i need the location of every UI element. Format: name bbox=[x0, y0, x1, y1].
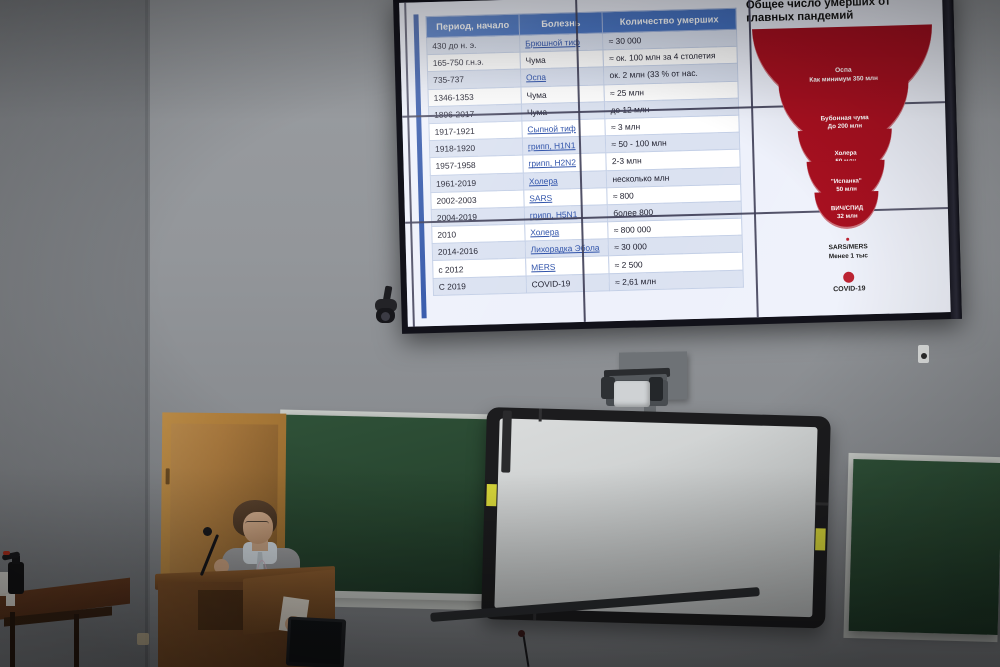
lecture-hall-photo: Период, начало Болезнь Количество умерши… bbox=[0, 0, 1000, 667]
photo-vignette bbox=[0, 0, 1000, 667]
